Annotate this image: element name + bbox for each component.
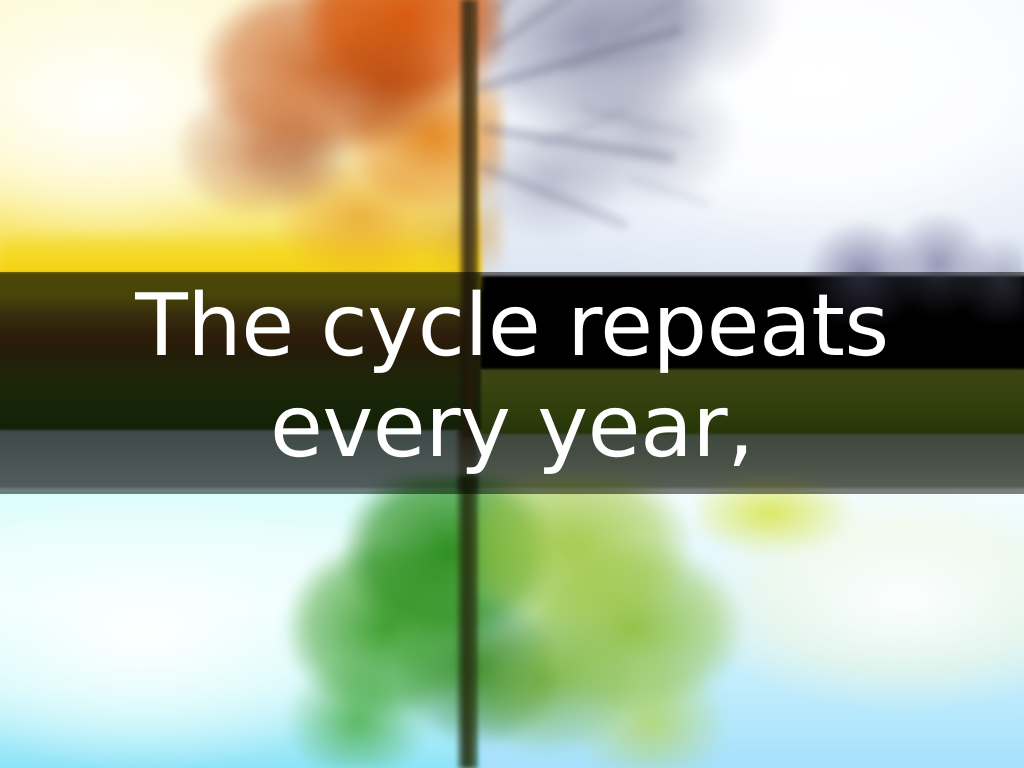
autumn-canopy-shadow (225, 15, 491, 245)
winter-canopy (461, 0, 809, 261)
slide-headline: The cycle repeats every year, (31, 276, 994, 479)
text-overlay-band: The cycle repeats every year, (0, 272, 1024, 494)
tree-trunk-reflected (457, 476, 479, 768)
slide-canvas: The cycle repeats every year, (0, 0, 1024, 768)
